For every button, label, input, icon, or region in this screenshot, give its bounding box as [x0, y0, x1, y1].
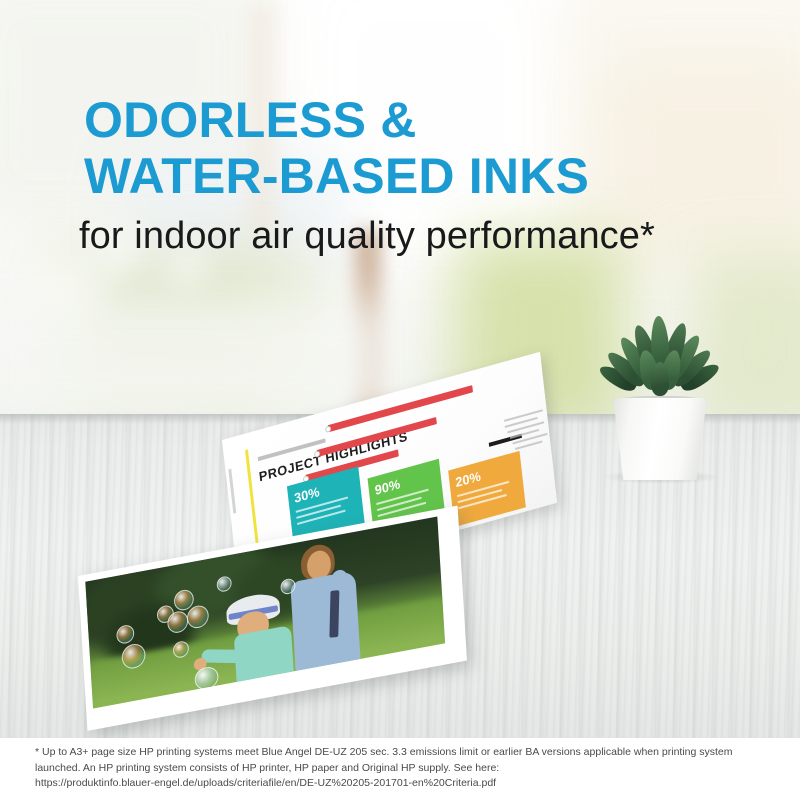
footnote-line-3: https://produktinfo.blauer-engel.de/uplo…	[35, 776, 775, 792]
brochure-key-value-1: 30%	[293, 484, 320, 506]
leaf-12	[651, 362, 669, 396]
headline-line-1: ODORLESS &	[84, 92, 417, 148]
footnote-line-2: launched. An HP printing system consists…	[35, 761, 775, 777]
brochure-side-label	[228, 469, 236, 514]
brochure-key-value-3: 20%	[455, 468, 482, 490]
footnote-line-1: * Up to A3+ page size HP printing system…	[35, 745, 775, 761]
photo-child-arm	[201, 649, 248, 663]
subtitle: for indoor air quality performance*	[79, 214, 779, 258]
poster: ODORLESS & WATER-BASED INKS for indoor a…	[0, 0, 800, 800]
plant-pot	[613, 398, 707, 480]
footnote-text: * Up to A3+ page size HP printing system…	[35, 745, 775, 792]
photo-woman-body	[290, 570, 360, 673]
potted-plant	[596, 310, 726, 480]
headline-line-2: WATER-BASED INKS	[84, 148, 724, 204]
brochure-accent-rule	[245, 450, 258, 547]
headline: ODORLESS & WATER-BASED INKS	[84, 92, 724, 204]
background-windowsill	[0, 300, 400, 420]
brochure-bar-dot-1	[325, 425, 331, 433]
photo-woman-tie	[329, 590, 339, 638]
brochure-key-value-2: 90%	[374, 476, 401, 498]
footnote-band: * Up to A3+ page size HP printing system…	[0, 738, 800, 800]
